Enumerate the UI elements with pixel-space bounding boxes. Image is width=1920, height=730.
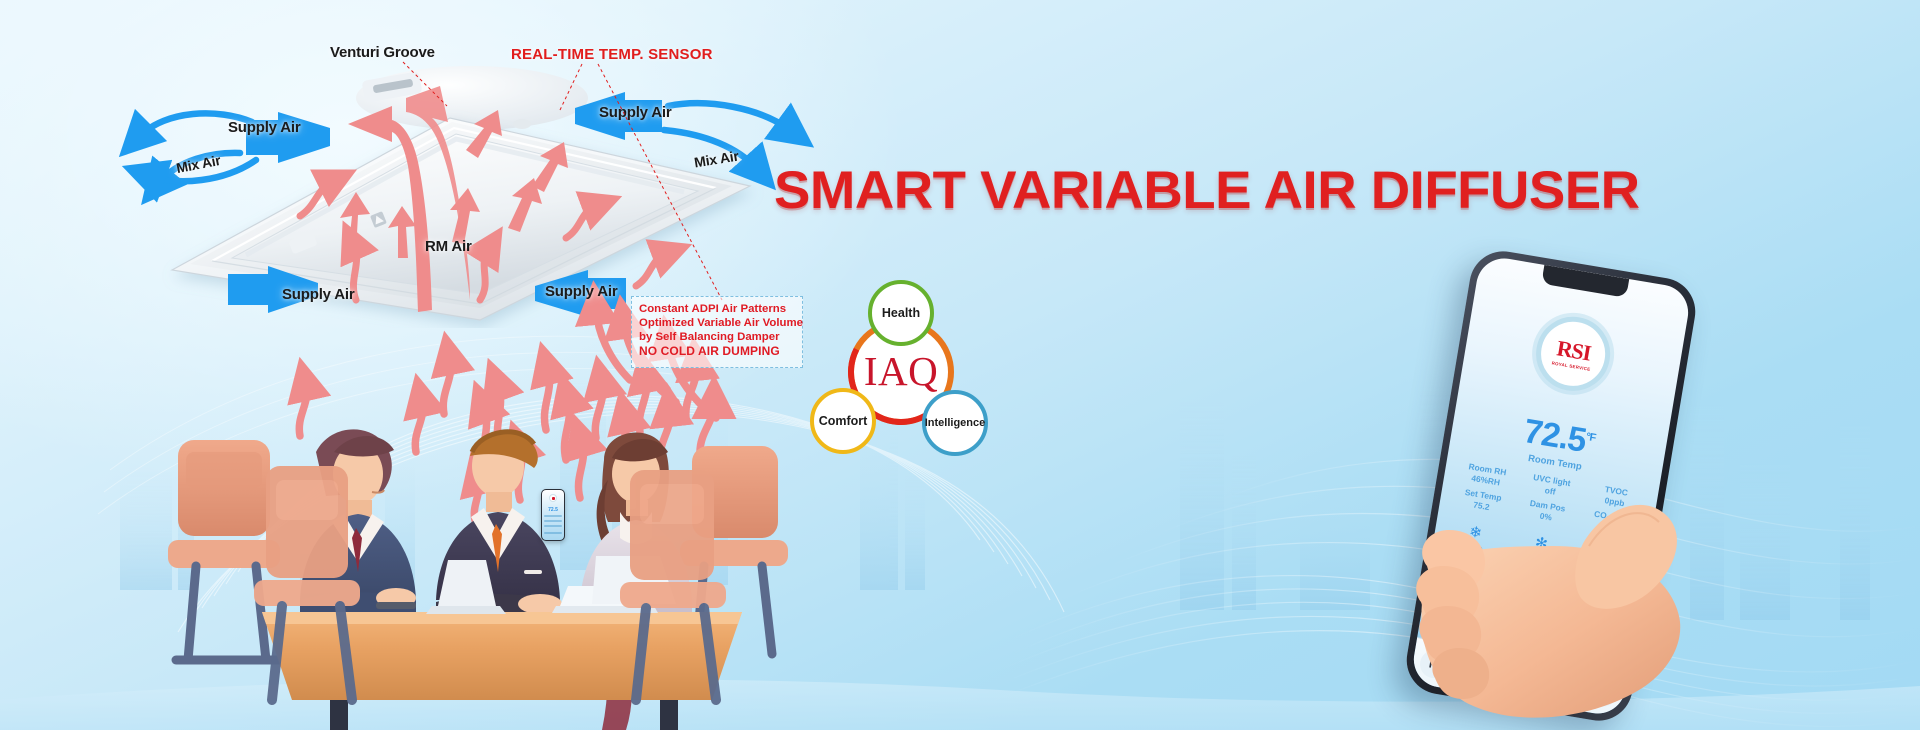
settings-gear-button[interactable]: ⚙ [1587,676,1619,708]
iaq-node-health: Health [868,280,934,346]
phone-app-mockup: RSI ROYAL SERVICE 72.5°F Room Temp Room … [1385,240,1805,730]
app-logo-mark: RSI [1555,337,1592,364]
callout-line-4: NO COLD AIR DUMPING [639,344,795,359]
control-fan[interactable]: ✻ Auto [1506,531,1574,568]
thermometer-button[interactable]: 🌡 [1545,669,1577,701]
label-supply-air-right-top: Supply Air [599,104,671,121]
control-cfm[interactable]: CFM 153 [1501,564,1569,601]
stat-set-temp: Set Temp 75.2 [1449,485,1515,516]
iaq-node-comfort-label: Comfort [819,414,868,428]
iaq-node-intelligence-label: Intelligence [925,417,986,429]
label-supply-air-left-bottom: Supply Air [282,286,354,303]
control-light[interactable]: ☀ OFF [1572,542,1640,579]
iaq-venn-diagram: IAQ Health Comfort Intelligence [800,280,1000,460]
control-heater[interactable]: ≋ OFF [1435,553,1503,590]
iaq-node-intelligence: Intelligence [922,390,988,456]
callout-line-3: by Self Balancing Damper [639,330,795,344]
ceiling-diffuser-illustration [150,58,770,328]
banner-stage: 72.5 Venturi Groove REAL-TIME TEMP. SENS… [0,0,1920,730]
table-phone-mockup: 72.5 [541,489,565,541]
stat-co2: CO₂ ppm 510 [1578,506,1644,537]
iaq-node-health-label: Health [882,306,920,320]
mode-d-button[interactable]: D [1461,655,1493,687]
callout-line-2: Optimized Variable Air Volume [639,316,795,330]
label-supply-air-left-top: Supply Air [228,119,300,136]
control-cooling[interactable]: ❄ Auto [1441,520,1509,557]
callout-line-1: Constant ADPI Air Patterns [639,302,795,316]
table-phone-logo-icon [549,494,557,502]
power-button[interactable]: ⏻ [1503,662,1535,694]
phone-screen: RSI ROYAL SERVICE 72.5°F Room Temp Room … [1410,254,1693,717]
temperature-unit: °F [1585,431,1596,444]
iaq-node-comfort: Comfort [810,388,876,454]
label-supply-air-right-bottom: Supply Air [545,283,617,300]
callout-line-1-prefix: Constant [639,303,692,315]
stat-damper-position: Dam Pos 0% [1514,496,1580,527]
mode-m-button[interactable]: M [1418,648,1450,680]
control-occupancy[interactable]: ⌂ Occ [1567,575,1635,612]
table-phone-temperature: 72.5 [542,507,563,513]
controls-grid: ❄ Auto ✻ Auto ☀ OFF ≋ OFF [1435,520,1640,612]
label-real-time-temp-sensor: REAL-TIME TEMP. SENSOR [511,46,713,63]
callout-line-1-suffix: Air Patterns [719,303,786,315]
page-title: SMART VARIABLE AIR DIFFUSER [774,163,1485,221]
phone-notch [1541,265,1629,298]
phone-device: RSI ROYAL SERVICE 72.5°F Room Temp Room … [1402,246,1701,725]
label-venturi-groove: Venturi Groove [330,44,435,61]
phone-navbar: M D ⏻ 🌡 ⚙ [1410,637,1629,718]
callout-box: Constant ADPI Air Patterns Optimized Var… [631,296,803,368]
label-rm-air: RM Air [425,238,472,255]
callout-adpi-term: ADPI [692,303,719,315]
app-logo: RSI ROYAL SERVICE [1531,311,1616,396]
